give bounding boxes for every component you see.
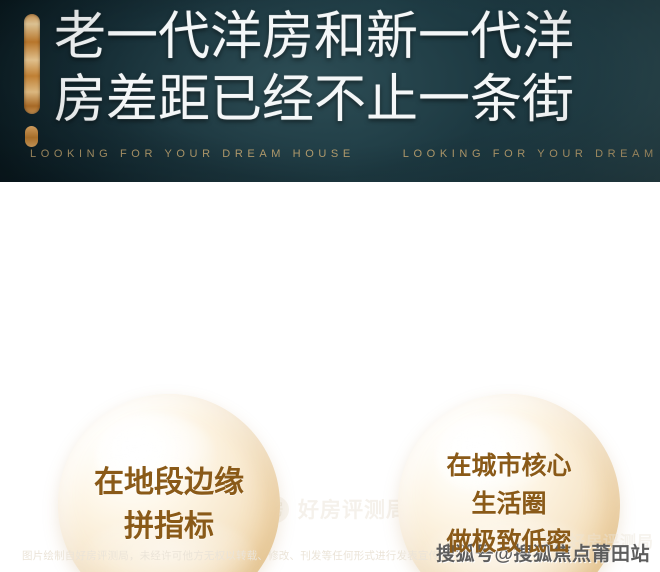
watermark-text: 好房评测局 <box>298 494 408 524</box>
tagline-1: LOOKING FOR YOUR DREAM HOUSE <box>30 148 355 160</box>
footer-bar: 房 好房评测局 图片绘制自好房评测局，未经许可他方无权以转载、修改、刊发等任何形… <box>0 530 660 572</box>
comparison-area: 房 好房评测局 在地段边缘 拼指标 在城市核心 生活圈 做极致低密 老派洋房逻辑… <box>0 182 660 572</box>
poster-root: 老一代洋房和新一代洋 房差距已经不止一条街 LOOKING FOR YOUR D… <box>0 0 660 572</box>
sohu-account-watermark: 搜狐号@搜狐焦点莆田站 <box>436 539 650 566</box>
headline-line-1: 老一代洋房和新一代洋 <box>54 6 656 69</box>
bubble-right-line-1: 在城市核心 <box>446 448 571 486</box>
gold-dot-icon <box>25 126 38 147</box>
tagline-row: LOOKING FOR YOUR DREAM HOUSE LOOKING FOR… <box>30 148 660 160</box>
gold-bar-icon <box>24 14 40 114</box>
bubble-right-line-2: 生活圈 <box>471 486 546 524</box>
center-watermark: 房 好房评测局 <box>262 494 408 524</box>
tagline-2: LOOKING FOR YOUR DREAM HOUSE <box>403 148 660 160</box>
header-banner: 老一代洋房和新一代洋 房差距已经不止一条街 LOOKING FOR YOUR D… <box>0 0 660 182</box>
bubble-left-line-1: 在地段边缘 <box>94 461 244 505</box>
headline-line-2: 房差距已经不止一条街 <box>54 69 656 132</box>
gold-exclamation-accent <box>24 14 40 150</box>
copyright-note: 图片绘制自好房评测局，未经许可他方无权以转载、修改、刊发等任何形式进行发表宣传。 <box>22 548 450 563</box>
headline-block: 老一代洋房和新一代洋 房差距已经不止一条街 <box>54 6 656 132</box>
